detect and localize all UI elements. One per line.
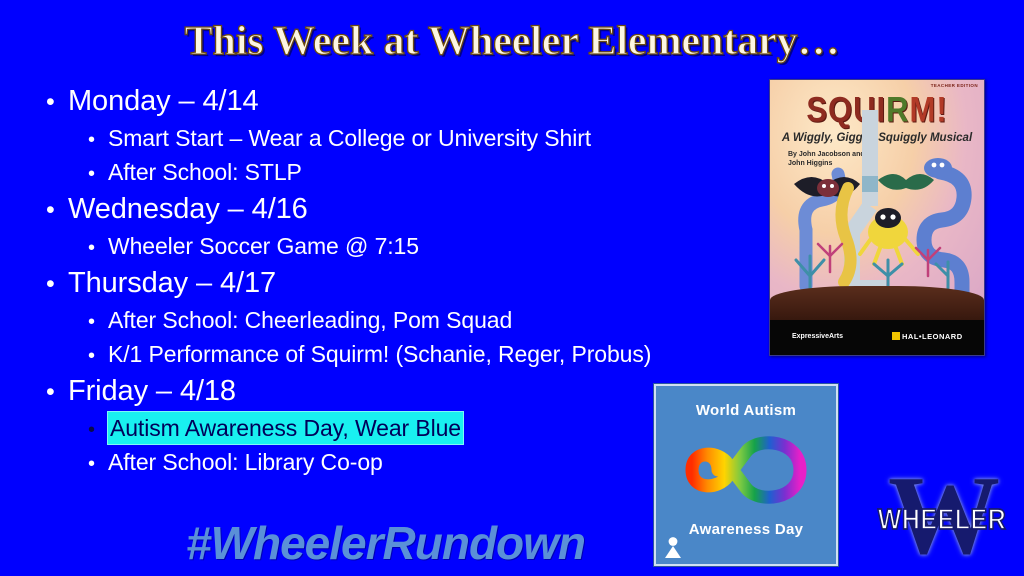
agenda-item-text: Wednesday – 4/16 <box>68 190 308 229</box>
bullet-glyph: • <box>46 265 68 304</box>
bullet-glyph: • <box>88 232 108 264</box>
agenda-item-selected-text: Autism Awareness Day, Wear Blue <box>108 412 463 444</box>
autism-top-label: World Autism <box>696 402 796 419</box>
squirm-footer-band: ExpressiveArts HAL•LEONARD <box>770 320 984 355</box>
bullet-glyph: • <box>88 158 108 190</box>
bullet-glyph: • <box>46 191 68 230</box>
hashtag-text: #WheelerRundown <box>186 516 585 570</box>
agenda-sub-row: •After School: Cheerleading, Pom Squad <box>88 304 746 338</box>
agenda-sub-row: •K/1 Performance of Squirm! (Schanie, Re… <box>88 338 746 372</box>
agenda-sub-row: •Wheeler Soccer Game @ 7:15 <box>88 230 746 264</box>
bullet-glyph: • <box>88 414 108 446</box>
agenda-item-text: After School: STLP <box>108 156 302 188</box>
agenda-sub-row: •Smart Start – Wear a College or Univers… <box>88 122 746 156</box>
agenda-item-text: After School: Library Co-op <box>108 446 383 478</box>
squirm-artwork: TEACHER EDITION SQUIRM! A Wiggly, Giggly… <box>770 80 984 320</box>
bullet-glyph: • <box>88 448 108 480</box>
rainbow-infinity-icon <box>684 434 808 506</box>
bullet-glyph: • <box>88 124 108 156</box>
agenda-item-text: Smart Start – Wear a College or Universi… <box>108 122 591 154</box>
world-autism-awareness-day-image: World Autism Awareness Day <box>654 384 838 566</box>
bullet-glyph: • <box>46 83 68 122</box>
agenda-list: •Monday – 4/14•Smart Start – Wear a Coll… <box>46 82 746 480</box>
agenda-day-row: •Friday – 4/18 <box>46 372 746 412</box>
squirm-poster-image: TEACHER EDITION SQUIRM! A Wiggly, Giggly… <box>769 79 985 356</box>
hal-leonard-text: HAL•LEONARD <box>902 332 963 341</box>
bullet-glyph: • <box>88 306 108 338</box>
wheeler-wordmark: WHEELER <box>866 504 1018 537</box>
agenda-sub-row: •After School: STLP <box>88 156 746 190</box>
autism-bottom-label: Awareness Day <box>689 521 804 538</box>
agenda-day-row: •Wednesday – 4/16 <box>46 190 746 230</box>
autism-top-text: World Autism <box>656 402 836 419</box>
expressive-arts-logo: ExpressiveArts <box>792 333 843 340</box>
agenda-sub-row: •After School: Library Co-op <box>88 446 746 480</box>
hal-leonard-mark-icon <box>892 332 900 340</box>
agenda-day-row: •Thursday – 4/17 <box>46 264 746 304</box>
bullet-glyph: • <box>88 340 108 372</box>
page-title: This Week at Wheeler Elementary… <box>0 16 1024 64</box>
agenda-item-text: Monday – 4/14 <box>68 82 259 121</box>
bullet-glyph: • <box>46 373 68 412</box>
agenda-item-text: Thursday – 4/17 <box>68 264 276 303</box>
person-icon <box>664 536 682 558</box>
agenda-item-text: After School: Cheerleading, Pom Squad <box>108 304 512 336</box>
agenda-item-text: K/1 Performance of Squirm! (Schanie, Reg… <box>108 338 651 370</box>
agenda-sub-row: •Autism Awareness Day, Wear Blue <box>88 412 746 446</box>
agenda-item-text: Wheeler Soccer Game @ 7:15 <box>108 230 419 262</box>
slide-canvas: This Week at Wheeler Elementary… •Monday… <box>0 0 1024 576</box>
squirm-ground <box>770 286 984 320</box>
squirm-creatures-illustration <box>770 80 984 320</box>
wheeler-school-logo: W WHEELER <box>866 470 1018 568</box>
autism-bottom-text: Awareness Day <box>656 521 836 538</box>
agenda-day-row: •Monday – 4/14 <box>46 82 746 122</box>
agenda-item-text: Friday – 4/18 <box>68 372 236 411</box>
hal-leonard-logo: HAL•LEONARD <box>892 332 963 341</box>
